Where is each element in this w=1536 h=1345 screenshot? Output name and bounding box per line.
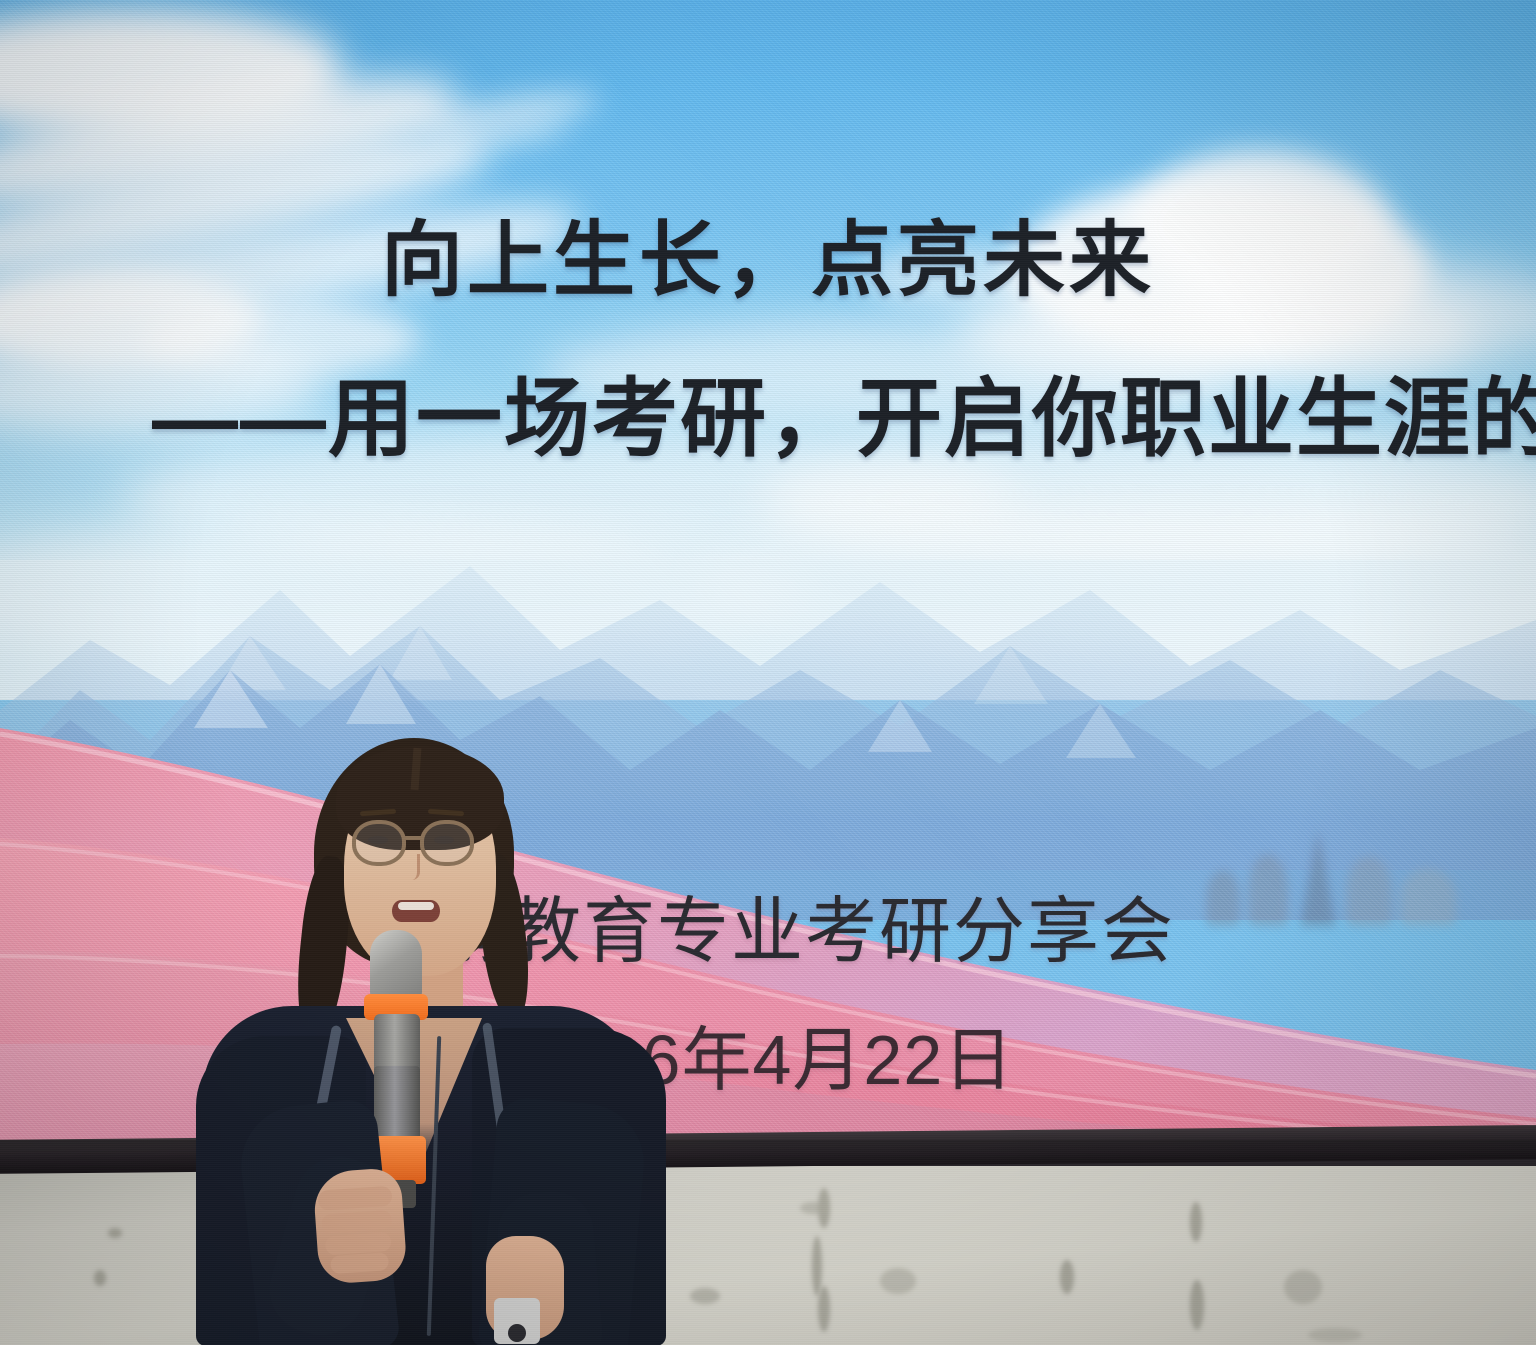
presenter-teeth xyxy=(398,902,434,910)
clicker-button-icon xyxy=(508,1324,526,1342)
presenter-nose xyxy=(408,854,420,880)
glasses-lens-left xyxy=(352,820,406,866)
slide-subtitle: ——用一场考研，开启你职业生涯的新 xyxy=(152,374,1536,464)
presenter-hand-left xyxy=(312,1167,408,1285)
slide-title: 向上生长，点亮未来 xyxy=(0,218,1536,304)
screenshot-stage: 向上生长，点亮未来 ——用一场考研，开启你职业生涯的新 学前教育专业考研分享会 … xyxy=(0,0,1536,1345)
microphone-head xyxy=(370,930,422,1002)
glasses-lens-right xyxy=(420,820,474,866)
presenter xyxy=(196,736,666,1345)
glasses-bridge xyxy=(404,836,424,840)
